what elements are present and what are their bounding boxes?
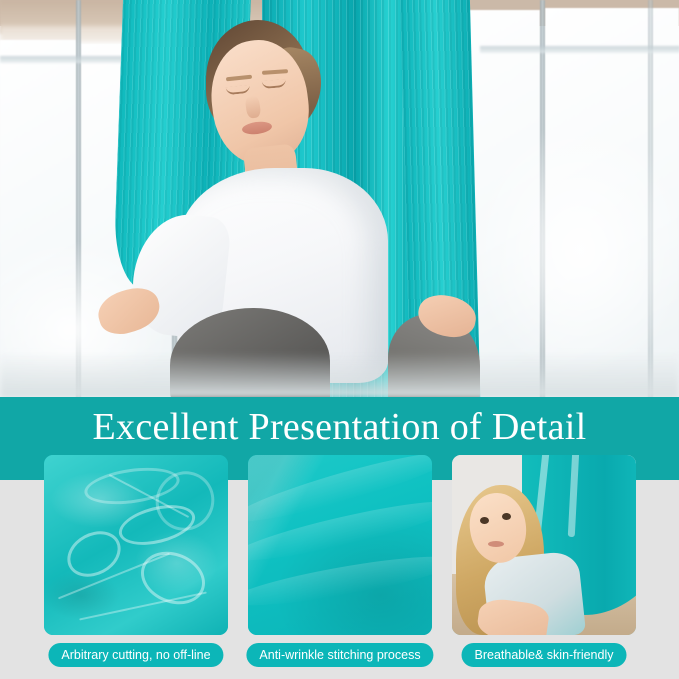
fabric-crumple-detail-image (44, 455, 228, 635)
hero-image (0, 0, 679, 398)
page-title: Excellent Presentation of Detail (93, 397, 587, 446)
meditating-woman (150, 18, 480, 398)
window-panel (0, 40, 76, 398)
product-feature-image: Excellent Presentation of Detail Arbitra… (0, 0, 679, 679)
window-sill (480, 46, 679, 53)
room-scene (452, 455, 636, 635)
feature-thumbnail-row: Arbitrary cutting, no off-line Anti-wrin… (0, 455, 679, 679)
feature-card-1[interactable]: Arbitrary cutting, no off-line (44, 455, 228, 635)
child-eye-right (502, 513, 511, 520)
fabric-drape-detail-image (248, 455, 432, 635)
window-panel (545, 8, 679, 398)
window-mullion (540, 0, 545, 398)
window-mullion (648, 0, 653, 398)
feature-card-3[interactable]: Breathable& skin-friendly (452, 455, 636, 635)
feature-caption-2: Anti-wrinkle stitching process (246, 643, 433, 667)
feature-caption-3: Breathable& skin-friendly (462, 643, 627, 667)
child-eye-left (480, 517, 489, 524)
feature-caption-1: Arbitrary cutting, no off-line (48, 643, 223, 667)
child-in-hammock-image (452, 455, 636, 635)
feature-card-2[interactable]: Anti-wrinkle stitching process (248, 455, 432, 635)
floor-shadow (0, 352, 679, 398)
child-mouth (488, 541, 504, 547)
